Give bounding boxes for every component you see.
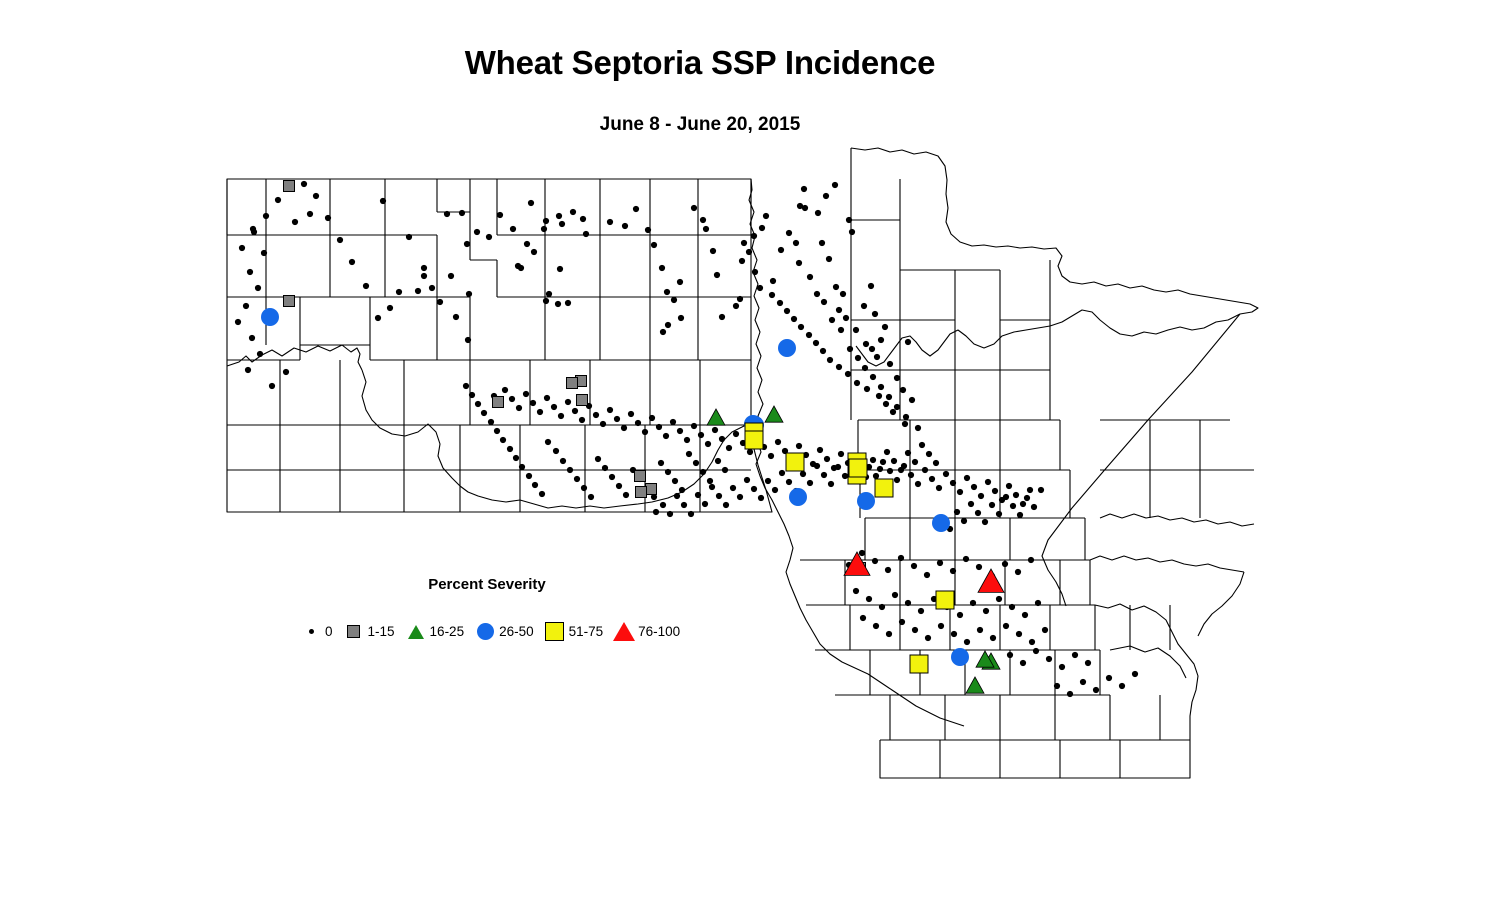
point-severity-0 <box>444 211 450 217</box>
point-severity-0 <box>665 322 671 328</box>
point-severity-0 <box>878 384 884 390</box>
point-severity-0 <box>574 476 580 482</box>
point-severity-0 <box>824 456 830 462</box>
point-severity-0 <box>911 563 917 569</box>
legend-label-26-50: 26-50 <box>499 624 534 639</box>
point-severity-0 <box>703 226 709 232</box>
point-severity-0 <box>257 351 263 357</box>
gray-square-icon <box>343 625 365 638</box>
point-severity-0 <box>878 337 884 343</box>
point-severity-0 <box>964 639 970 645</box>
legend-label-0: 0 <box>325 624 333 639</box>
legend-item-1-15: 1-15 <box>343 624 395 639</box>
point-severity-0 <box>623 492 629 498</box>
point-severity-0 <box>396 289 402 295</box>
point-severity-0 <box>1046 656 1052 662</box>
point-severity-1-15 <box>636 487 647 498</box>
point-severity-0 <box>518 265 524 271</box>
point-severity-0 <box>870 457 876 463</box>
point-severity-0 <box>684 437 690 443</box>
point-severity-0 <box>929 476 935 482</box>
point-severity-0 <box>1027 487 1033 493</box>
point-severity-0 <box>656 424 662 430</box>
legend-label-51-75: 51-75 <box>569 624 604 639</box>
point-severity-0 <box>698 432 704 438</box>
point-severity-0 <box>474 229 480 235</box>
point-severity-0 <box>1132 671 1138 677</box>
point-severity-0 <box>513 455 519 461</box>
legend-item-76-100: 76-100 <box>613 622 680 641</box>
point-severity-0 <box>829 317 835 323</box>
point-severity-0 <box>678 315 684 321</box>
point-severity-0 <box>681 502 687 508</box>
point-severity-0 <box>976 564 982 570</box>
point-severity-0 <box>702 501 708 507</box>
point-severity-0 <box>523 391 529 397</box>
point-severity-0 <box>741 240 747 246</box>
point-severity-0 <box>663 433 669 439</box>
point-severity-0 <box>530 400 536 406</box>
point-severity-0 <box>243 303 249 309</box>
red-triangle-icon <box>613 622 635 641</box>
point-severity-0 <box>700 217 706 223</box>
point-severity-0 <box>845 371 851 377</box>
point-severity-0 <box>853 327 859 333</box>
point-severity-0 <box>951 631 957 637</box>
point-severity-0 <box>924 572 930 578</box>
point-severity-0 <box>502 387 508 393</box>
point-severity-0 <box>763 213 769 219</box>
point-severity-0 <box>757 285 763 291</box>
point-severity-0 <box>823 193 829 199</box>
point-severity-0 <box>1072 652 1078 658</box>
point-severity-0 <box>733 431 739 437</box>
point-severity-0 <box>667 511 673 517</box>
point-severity-0 <box>674 493 680 499</box>
point-severity-0 <box>905 600 911 606</box>
point-severity-0 <box>1015 569 1021 575</box>
point-severity-16-25 <box>966 677 984 693</box>
point-severity-0 <box>546 291 552 297</box>
legend: Percent Severity 0 1-15 16-25 26-50 51-7… <box>300 576 700 656</box>
point-severity-0 <box>251 229 257 235</box>
point-severity-0 <box>602 465 608 471</box>
point-severity-0 <box>977 627 983 633</box>
point-severity-0 <box>936 485 942 491</box>
point-severity-0 <box>800 471 806 477</box>
point-severity-0 <box>660 502 666 508</box>
point-severity-0 <box>1020 501 1026 507</box>
point-severity-0 <box>528 200 534 206</box>
point-severity-0 <box>1013 492 1019 498</box>
point-severity-0 <box>996 511 1002 517</box>
point-severity-0 <box>607 219 613 225</box>
point-severity-0 <box>437 299 443 305</box>
point-severity-0 <box>798 324 804 330</box>
point-severity-0 <box>963 556 969 562</box>
point-severity-0 <box>693 460 699 466</box>
point-severity-0 <box>752 269 758 275</box>
point-severity-0 <box>957 489 963 495</box>
point-severity-1-15 <box>646 484 657 495</box>
legend-item-16-25: 16-25 <box>405 624 465 639</box>
point-severity-0 <box>747 449 753 455</box>
point-severity-16-25 <box>707 409 725 425</box>
point-severity-0 <box>887 468 893 474</box>
point-severity-0 <box>828 481 834 487</box>
point-severity-0 <box>770 278 776 284</box>
point-severity-0 <box>642 429 648 435</box>
point-severity-0 <box>551 404 557 410</box>
point-severity-0 <box>524 241 530 247</box>
point-severity-0 <box>883 401 889 407</box>
point-severity-0 <box>349 259 355 265</box>
point-severity-0 <box>415 288 421 294</box>
point-severity-0 <box>595 456 601 462</box>
point-severity-26-50 <box>857 492 875 510</box>
point-severity-76-100 <box>978 569 1004 592</box>
point-severity-0 <box>880 459 886 465</box>
point-severity-0 <box>786 479 792 485</box>
point-severity-0 <box>469 392 475 398</box>
legend-label-16-25: 16-25 <box>430 624 465 639</box>
point-severity-0 <box>778 247 784 253</box>
point-severity-0 <box>964 475 970 481</box>
point-severity-0 <box>853 588 859 594</box>
point-severity-0 <box>884 449 890 455</box>
point-severity-0 <box>486 234 492 240</box>
point-severity-0 <box>843 315 849 321</box>
point-severity-0 <box>903 414 909 420</box>
point-severity-0 <box>567 467 573 473</box>
point-severity-0 <box>810 461 816 467</box>
point-severity-0 <box>380 198 386 204</box>
point-severity-0 <box>908 472 914 478</box>
point-severity-0 <box>691 423 697 429</box>
point-severity-0 <box>891 458 897 464</box>
point-severity-0 <box>387 305 393 311</box>
point-severity-0 <box>836 364 842 370</box>
point-severity-0 <box>714 272 720 278</box>
point-severity-0 <box>255 285 261 291</box>
point-severity-0 <box>909 397 915 403</box>
point-severity-0 <box>826 256 832 262</box>
point-severity-0 <box>715 458 721 464</box>
point-severity-0 <box>1106 675 1112 681</box>
point-severity-0 <box>975 510 981 516</box>
point-severity-0 <box>943 471 949 477</box>
point-severity-0 <box>488 419 494 425</box>
point-severity-0 <box>807 274 813 280</box>
point-severity-0 <box>406 234 412 240</box>
point-severity-0 <box>543 218 549 224</box>
point-severity-51-75 <box>745 431 763 449</box>
point-severity-0 <box>886 631 892 637</box>
point-severity-26-50 <box>261 308 279 326</box>
point-severity-0 <box>859 550 865 556</box>
point-severity-0 <box>842 473 848 479</box>
point-severity-0 <box>565 399 571 405</box>
legend-title: Percent Severity <box>300 576 674 593</box>
point-severity-0 <box>926 451 932 457</box>
point-severity-0 <box>1085 660 1091 666</box>
map-page: Wheat Septoria SSP Incidence June 8 - Ju… <box>0 0 1503 900</box>
point-severity-0 <box>459 210 465 216</box>
point-severity-0 <box>868 283 874 289</box>
point-severity-0 <box>1007 652 1013 658</box>
point-severity-0 <box>688 511 694 517</box>
point-severity-0 <box>1002 561 1008 567</box>
point-severity-0 <box>989 502 995 508</box>
point-severity-0 <box>990 635 996 641</box>
point-severity-0 <box>860 615 866 621</box>
point-severity-0 <box>481 410 487 416</box>
point-severity-16-25 <box>765 406 783 422</box>
point-severity-0 <box>645 227 651 233</box>
point-severity-0 <box>821 299 827 305</box>
point-severity-0 <box>793 240 799 246</box>
point-severity-0 <box>716 493 722 499</box>
point-severity-0 <box>985 479 991 485</box>
point-severity-0 <box>466 291 472 297</box>
point-severity-1-15 <box>284 181 295 192</box>
point-severity-0 <box>628 411 634 417</box>
point-severity-0 <box>557 266 563 272</box>
point-severity-1-15 <box>567 378 578 389</box>
point-severity-0 <box>1003 623 1009 629</box>
point-severity-0 <box>827 357 833 363</box>
point-severity-51-75 <box>849 459 867 477</box>
point-severity-0 <box>664 289 670 295</box>
point-severity-0 <box>894 477 900 483</box>
point-severity-0 <box>616 483 622 489</box>
point-severity-0 <box>779 470 785 476</box>
point-severity-0 <box>759 225 765 231</box>
point-severity-0 <box>710 248 716 254</box>
point-severity-0 <box>463 383 469 389</box>
point-severity-0 <box>1093 687 1099 693</box>
point-severity-0 <box>786 230 792 236</box>
point-severity-0 <box>872 558 878 564</box>
point-severity-26-50 <box>932 514 950 532</box>
point-severity-0 <box>902 421 908 427</box>
point-severity-0 <box>375 315 381 321</box>
point-severity-0 <box>570 209 576 215</box>
point-severity-0 <box>819 240 825 246</box>
point-severity-0 <box>796 443 802 449</box>
point-severity-0 <box>901 463 907 469</box>
point-severity-0 <box>665 469 671 475</box>
point-severity-0 <box>719 436 725 442</box>
point-severity-0 <box>866 596 872 602</box>
point-severity-0 <box>821 472 827 478</box>
point-severity-0 <box>1009 604 1015 610</box>
point-severity-0 <box>588 494 594 500</box>
point-severity-0 <box>915 481 921 487</box>
point-severity-0 <box>801 186 807 192</box>
point-severity-0 <box>797 203 803 209</box>
point-severity-0 <box>1054 683 1060 689</box>
point-severity-0 <box>709 484 715 490</box>
point-severity-0 <box>873 623 879 629</box>
point-severity-0 <box>1042 627 1048 633</box>
point-severity-0 <box>677 279 683 285</box>
point-severity-0 <box>791 316 797 322</box>
point-severity-0 <box>581 485 587 491</box>
point-severity-0 <box>247 269 253 275</box>
point-severity-0 <box>846 217 852 223</box>
point-severity-0 <box>847 346 853 352</box>
point-severity-0 <box>261 250 267 256</box>
point-severity-0 <box>307 211 313 217</box>
point-severity-0 <box>558 413 564 419</box>
point-severity-0 <box>992 488 998 494</box>
point-severity-0 <box>938 623 944 629</box>
point-severity-0 <box>737 494 743 500</box>
point-severity-0 <box>775 439 781 445</box>
point-severity-0 <box>874 354 880 360</box>
point-severity-0 <box>796 260 802 266</box>
point-severity-0 <box>807 480 813 486</box>
point-severity-0 <box>877 466 883 472</box>
point-severity-0 <box>292 219 298 225</box>
point-severity-0 <box>831 465 837 471</box>
point-severity-0 <box>500 437 506 443</box>
point-severity-0 <box>726 445 732 451</box>
point-severity-0 <box>887 361 893 367</box>
point-severity-0 <box>325 215 331 221</box>
point-severity-0 <box>890 409 896 415</box>
point-severity-0 <box>1119 683 1125 689</box>
point-severity-0 <box>971 484 977 490</box>
point-severity-0 <box>820 348 826 354</box>
point-severity-0 <box>263 213 269 219</box>
point-severity-0 <box>784 308 790 314</box>
point-severity-0 <box>559 221 565 227</box>
legend-label-76-100: 76-100 <box>638 624 680 639</box>
point-severity-0 <box>722 467 728 473</box>
point-severity-0 <box>283 369 289 375</box>
point-severity-0 <box>861 303 867 309</box>
point-severity-0 <box>892 592 898 598</box>
point-severity-0 <box>885 567 891 573</box>
point-severity-0 <box>765 478 771 484</box>
point-severity-0 <box>607 407 613 413</box>
point-severity-0 <box>544 395 550 401</box>
point-severity-0 <box>961 518 967 524</box>
point-severity-0 <box>873 473 879 479</box>
point-severity-0 <box>840 291 846 297</box>
point-severity-0 <box>509 396 515 402</box>
point-severity-51-75 <box>936 591 954 609</box>
point-severity-0 <box>768 453 774 459</box>
point-severity-0 <box>531 249 537 255</box>
point-severity-0 <box>313 193 319 199</box>
point-severity-0 <box>876 393 882 399</box>
point-severity-0 <box>996 596 1002 602</box>
point-severity-0 <box>886 394 892 400</box>
point-severity-0 <box>651 242 657 248</box>
point-severity-0 <box>363 283 369 289</box>
point-severity-0 <box>912 459 918 465</box>
point-severity-0 <box>950 568 956 574</box>
point-severity-0 <box>982 519 988 525</box>
point-severity-0 <box>772 487 778 493</box>
point-severity-0 <box>719 314 725 320</box>
point-severity-0 <box>653 509 659 515</box>
point-severity-0 <box>672 478 678 484</box>
point-severity-0 <box>541 226 547 232</box>
point-severity-0 <box>545 439 551 445</box>
point-severity-0 <box>950 480 956 486</box>
point-severity-0 <box>593 412 599 418</box>
point-severity-0 <box>954 509 960 515</box>
point-severity-0 <box>659 265 665 271</box>
point-severity-0 <box>925 635 931 641</box>
point-severity-0 <box>806 332 812 338</box>
legend-item-26-50: 26-50 <box>474 623 534 640</box>
point-severity-0 <box>555 301 561 307</box>
point-severity-0 <box>744 477 750 483</box>
point-severity-0 <box>1024 495 1030 501</box>
point-severity-0 <box>918 608 924 614</box>
point-severity-0 <box>507 446 513 452</box>
point-severity-1-15 <box>577 395 588 406</box>
point-severity-0 <box>1059 664 1065 670</box>
point-severity-0 <box>622 223 628 229</box>
point-severity-0 <box>1033 648 1039 654</box>
point-severity-26-50 <box>951 648 969 666</box>
point-severity-0 <box>769 292 775 298</box>
point-severity-0 <box>543 298 549 304</box>
point-severity-0 <box>539 491 545 497</box>
point-severity-0 <box>712 427 718 433</box>
point-severity-0 <box>670 419 676 425</box>
point-severity-0 <box>872 311 878 317</box>
point-severity-0 <box>691 205 697 211</box>
point-severity-0 <box>815 210 821 216</box>
point-severity-1-15 <box>635 471 646 482</box>
point-severity-0 <box>301 181 307 187</box>
point-severity-0 <box>836 307 842 313</box>
point-severity-0 <box>862 365 868 371</box>
blue-circle-icon <box>474 623 496 640</box>
legend-label-1-15: 1-15 <box>368 624 395 639</box>
point-severity-0 <box>905 450 911 456</box>
point-severity-0 <box>429 285 435 291</box>
point-severity-0 <box>900 387 906 393</box>
point-severity-0 <box>905 339 911 345</box>
point-severity-0 <box>464 241 470 247</box>
point-severity-0 <box>633 206 639 212</box>
point-severity-0 <box>275 197 281 203</box>
point-severity-0 <box>899 619 905 625</box>
point-severity-0 <box>707 478 713 484</box>
point-severity-26-50 <box>789 488 807 506</box>
green-triangle-icon <box>405 625 427 639</box>
point-severity-0 <box>733 303 739 309</box>
point-severity-0 <box>475 401 481 407</box>
point-severity-0 <box>813 340 819 346</box>
point-severity-0 <box>560 458 566 464</box>
point-severity-0 <box>579 417 585 423</box>
point-severity-0 <box>572 408 578 414</box>
point-severity-0 <box>777 300 783 306</box>
point-severity-0 <box>879 604 885 610</box>
point-severity-0 <box>1080 679 1086 685</box>
point-severity-0 <box>737 296 743 302</box>
point-severity-0 <box>565 300 571 306</box>
